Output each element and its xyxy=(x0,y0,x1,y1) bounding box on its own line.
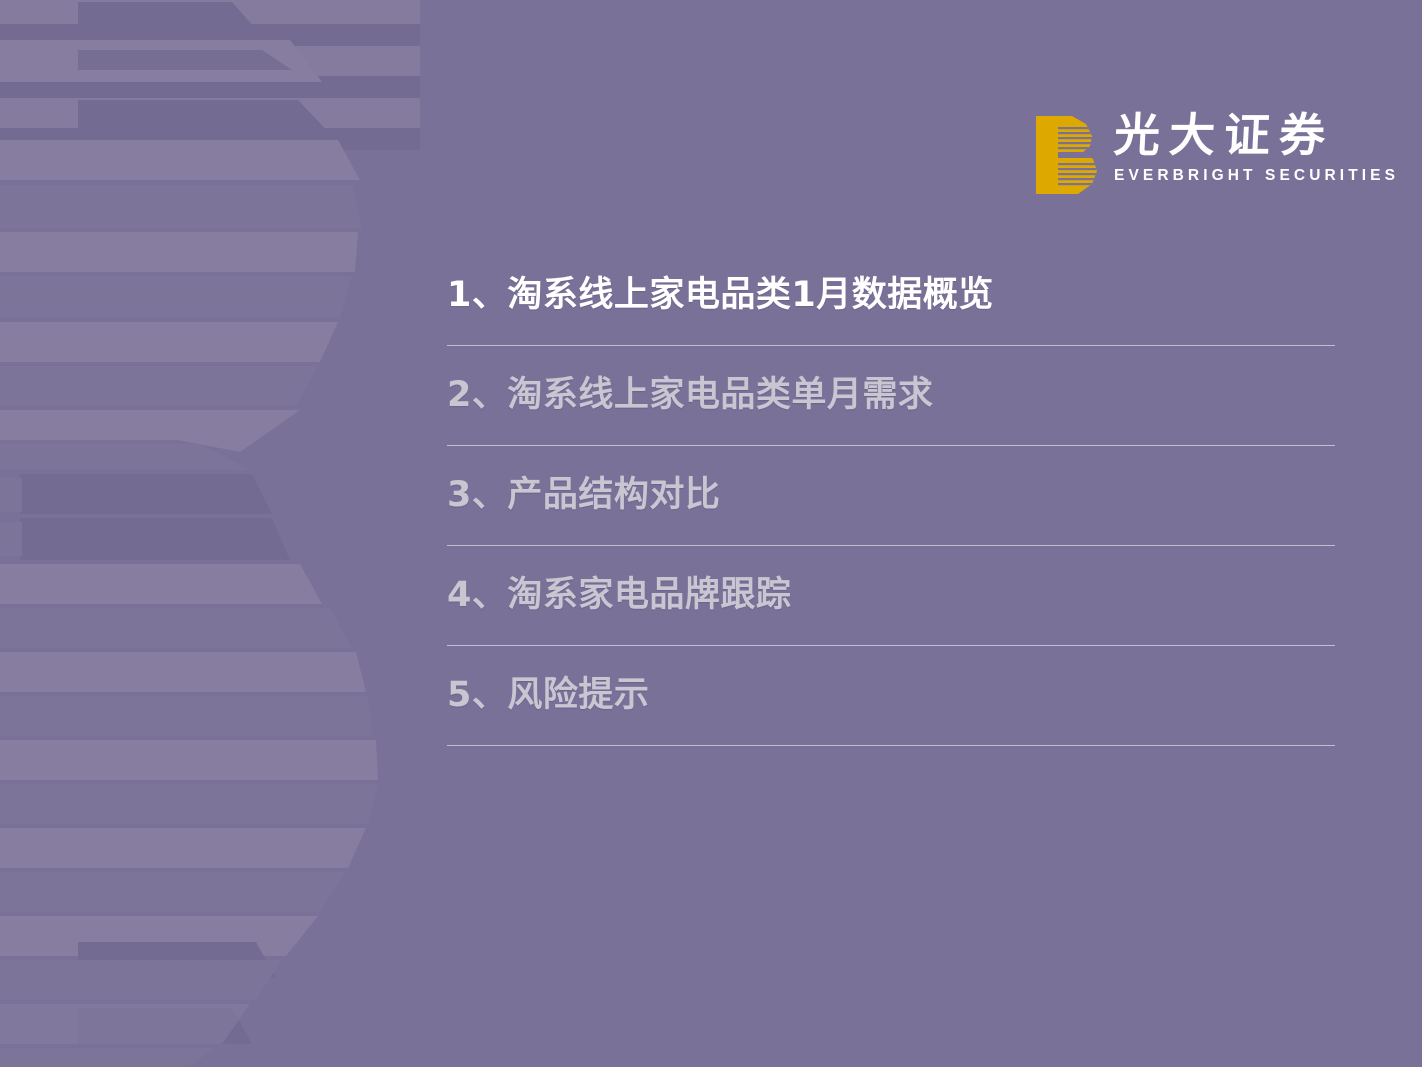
everbright-b-mark-icon xyxy=(1036,116,1098,194)
agenda-item-3[interactable]: 3、产品结构对比 xyxy=(447,446,1335,546)
agenda-item-1[interactable]: 1、淘系线上家电品类1月数据概览 xyxy=(447,246,1335,346)
company-logo-text: 光大证券 EVERBRIGHT SECURITIES xyxy=(1114,110,1399,185)
agenda-item-1-label: 1、淘系线上家电品类1月数据概览 xyxy=(447,278,994,313)
company-name-en: EVERBRIGHT SECURITIES xyxy=(1114,167,1399,185)
slide-canvas: 光大证券 EVERBRIGHT SECURITIES 1、淘系线上家电品类1月数… xyxy=(0,0,1422,1067)
watermark-stripes xyxy=(0,0,420,150)
ghost-b-logo-watermark xyxy=(0,0,420,1067)
agenda-item-5[interactable]: 5、风险提示 xyxy=(447,646,1335,746)
watermark-bars xyxy=(0,2,378,1067)
company-name-cn: 光大证券 xyxy=(1113,110,1401,162)
agenda-item-2[interactable]: 2、淘系线上家电品类单月需求 xyxy=(447,346,1335,446)
agenda-item-2-label: 2、淘系线上家电品类单月需求 xyxy=(447,378,933,413)
agenda-item-5-label: 5、风险提示 xyxy=(447,678,649,713)
agenda-item-4-label: 4、淘系家电品牌跟踪 xyxy=(447,578,791,613)
company-logo: 光大证券 EVERBRIGHT SECURITIES xyxy=(1036,110,1356,200)
agenda-item-4[interactable]: 4、淘系家电品牌跟踪 xyxy=(447,546,1335,646)
agenda-item-3-label: 3、产品结构对比 xyxy=(447,478,720,513)
agenda-list: 1、淘系线上家电品类1月数据概览 2、淘系线上家电品类单月需求 3、产品结构对比… xyxy=(447,246,1335,746)
